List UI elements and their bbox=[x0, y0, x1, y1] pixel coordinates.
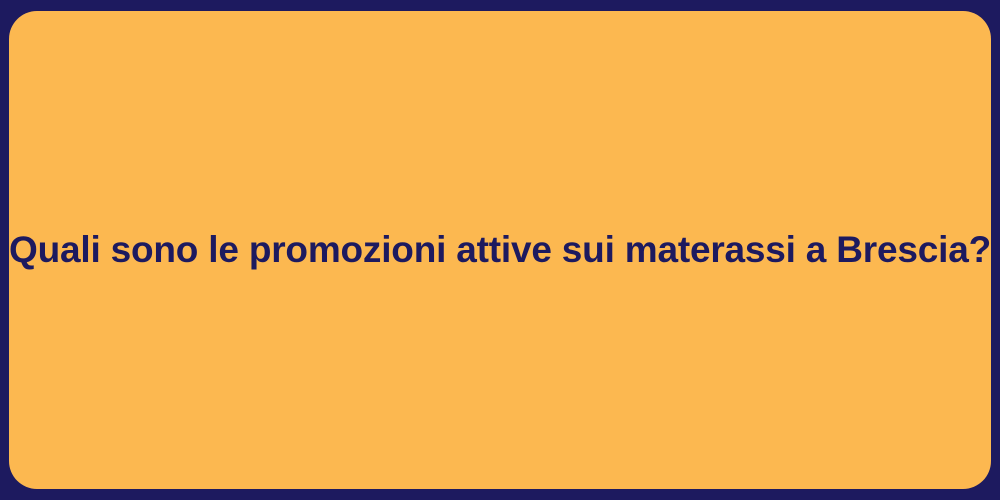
outer-frame: Quali sono le promozioni attive sui mate… bbox=[0, 0, 1000, 500]
headline-question: Quali sono le promozioni attive sui mate… bbox=[0, 227, 1000, 273]
question-card: Quali sono le promozioni attive sui mate… bbox=[9, 11, 991, 489]
